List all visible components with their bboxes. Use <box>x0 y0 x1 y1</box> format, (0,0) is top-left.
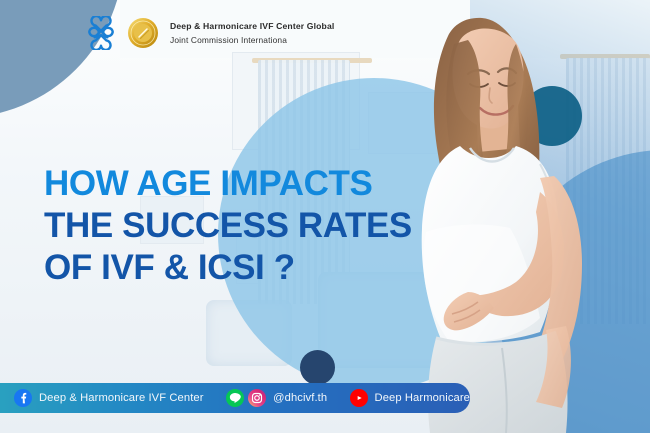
harmonicare-clover-logo <box>84 16 118 50</box>
youtube-label: Deep Harmonicare <box>375 392 471 404</box>
brand-logo-lockup: Deep & Harmonicare IVF Center Global Joi… <box>84 16 334 50</box>
youtube-item[interactable]: Deep Harmonicare <box>350 389 471 407</box>
decorative-dot-navy <box>300 350 335 385</box>
headline-line-2: THE SUCCESS RATES <box>44 205 412 247</box>
facebook-item[interactable]: Deep & Harmonicare IVF Center <box>14 389 204 407</box>
headline-line-1: HOW AGE IMPACTS <box>44 163 412 205</box>
headline-line-3: OF IVF & ICSI ? <box>44 247 412 289</box>
line-icon[interactable] <box>226 389 244 407</box>
instagram-icon[interactable] <box>248 389 266 407</box>
facebook-icon[interactable] <box>14 389 32 407</box>
facebook-label: Deep & Harmonicare IVF Center <box>39 392 204 404</box>
brand-line-1: Deep & Harmonicare IVF Center Global <box>170 22 334 31</box>
pregnant-woman-photo <box>390 0 650 433</box>
line-item[interactable] <box>226 389 244 407</box>
brand-text-block: Deep & Harmonicare IVF Center Global Joi… <box>170 22 334 44</box>
promo-banner: Deep & Harmonicare IVF Center Global Joi… <box>0 0 650 433</box>
social-bar: Deep & Harmonicare IVF Center <box>0 383 470 413</box>
brand-line-2: Joint Commission Internationa <box>170 36 334 44</box>
instagram-label: @dhcivf.th <box>273 392 327 404</box>
jci-gold-seal <box>127 17 159 49</box>
headline: HOW AGE IMPACTS THE SUCCESS RATES OF IVF… <box>44 163 412 289</box>
instagram-item[interactable]: @dhcivf.th <box>248 389 327 407</box>
youtube-icon[interactable] <box>350 389 368 407</box>
